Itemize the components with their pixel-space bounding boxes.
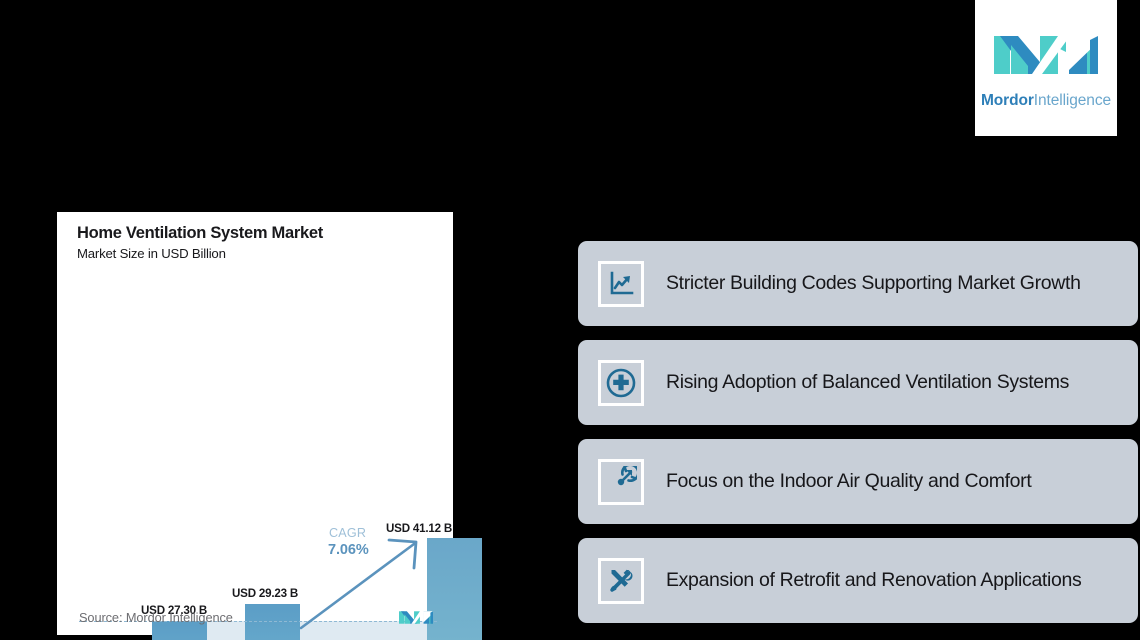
brand-wordmark: MordorIntelligence: [981, 92, 1111, 110]
brand-logo: MordorIntelligence: [975, 0, 1117, 136]
chart-plot-area: USD 27.30 B USD 29.23 B USD 41.12 B CAGR…: [57, 212, 453, 635]
growth-chart-icon: [598, 261, 644, 307]
mordor-logo-mark: [994, 26, 1098, 84]
mordor-logo-mark-small: [399, 608, 433, 627]
market-drivers-list: Stricter Building Codes Supporting Marke…: [578, 241, 1138, 623]
driver-card-1[interactable]: Stricter Building Codes Supporting Marke…: [578, 241, 1138, 326]
driver-card-3-text: Focus on the Indoor Air Quality and Comf…: [666, 469, 1031, 495]
medical-cross-circle-icon: [598, 360, 644, 406]
driver-card-1-text: Stricter Building Codes Supporting Marke…: [666, 271, 1081, 297]
driver-card-3[interactable]: Focus on the Indoor Air Quality and Comf…: [578, 439, 1138, 524]
brand-name-bold: Mordor: [981, 92, 1034, 109]
tools-wrench-screwdriver-icon: [598, 558, 644, 604]
chart-source-row: Source: Mordor Intelligence: [57, 608, 453, 627]
brand-name-light: Intelligence: [1034, 92, 1111, 109]
market-size-chart-card: Home Ventilation System Market Market Si…: [57, 212, 453, 635]
source-label: Source: Mordor Intelligence: [79, 610, 233, 625]
driver-card-2-text: Rising Adoption of Balanced Ventilation …: [666, 370, 1069, 396]
screenshot-root: MordorIntelligence Home Ventilation Syst…: [0, 0, 1140, 640]
driver-card-4[interactable]: Expansion of Retrofit and Renovation App…: [578, 538, 1138, 623]
driver-card-2[interactable]: Rising Adoption of Balanced Ventilation …: [578, 340, 1138, 425]
driver-card-4-text: Expansion of Retrofit and Renovation App…: [666, 568, 1081, 594]
value-label-2026: USD 29.23 B: [232, 587, 298, 600]
target-arrow-icon: [598, 459, 644, 505]
